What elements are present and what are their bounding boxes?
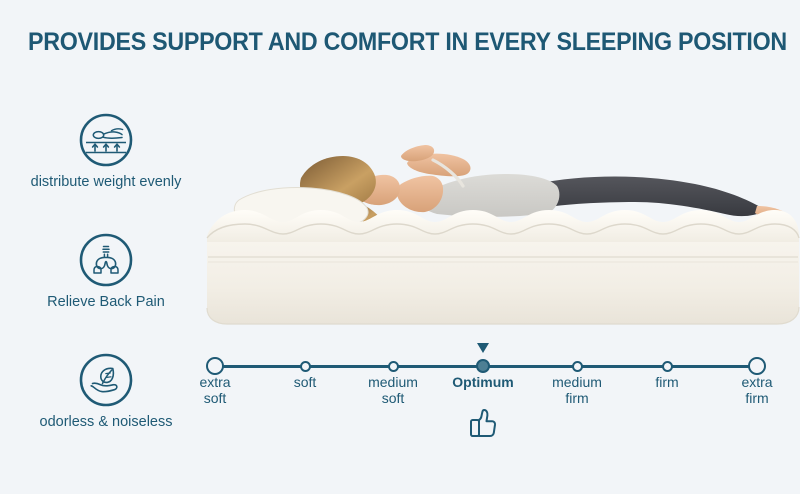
scale-dot[interactable] xyxy=(300,361,311,372)
scale-stop-label: extra firm xyxy=(702,374,800,406)
down-triangle-marker-icon xyxy=(476,342,490,354)
feature-label: distribute weight evenly xyxy=(0,174,212,190)
scale-dot-selected[interactable] xyxy=(476,359,490,373)
page-title: PROVIDES SUPPORT AND COMFORT IN EVERY SL… xyxy=(28,28,772,57)
scale-dot[interactable] xyxy=(206,357,224,375)
infographic-canvas: PROVIDES SUPPORT AND COMFORT IN EVERY SL… xyxy=(0,0,800,494)
scale-dot[interactable] xyxy=(748,357,766,375)
mattress-scene xyxy=(205,112,800,327)
scale-dot[interactable] xyxy=(572,361,583,372)
weight-distribution-icon xyxy=(78,112,134,168)
feature-label: Relieve Back Pain xyxy=(0,294,212,310)
scale-dot[interactable] xyxy=(662,361,673,372)
feature-label: odorless & noiseless xyxy=(0,414,212,430)
spine-support-icon xyxy=(78,232,134,288)
thumbs-up-icon xyxy=(467,406,499,440)
feature-distribute-weight-evenly: distribute weight evenly xyxy=(0,112,212,190)
mattress-firmness-scale: extra soft soft medium soft xyxy=(195,330,795,450)
scale-dot[interactable] xyxy=(388,361,399,372)
leaf-in-hand-icon xyxy=(78,352,134,408)
feature-relieve-back-pain: Relieve Back Pain xyxy=(0,232,212,310)
